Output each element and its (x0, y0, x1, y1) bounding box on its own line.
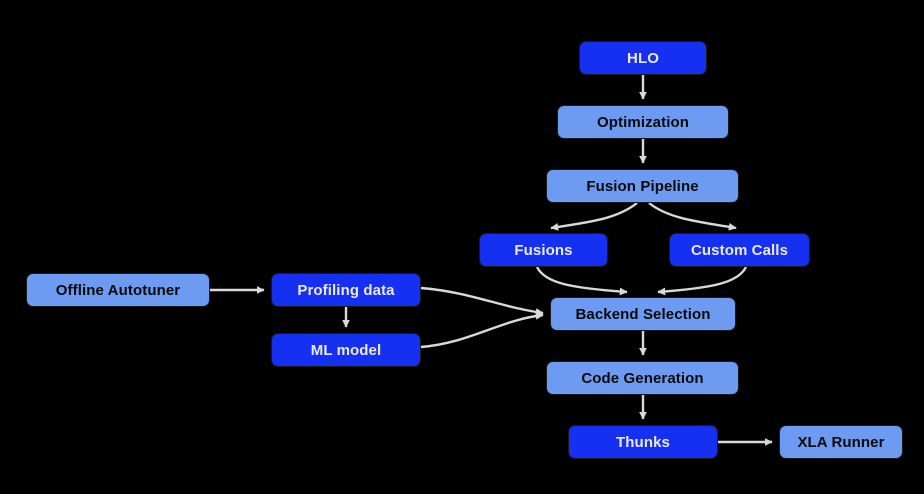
node-label: Backend Selection (575, 306, 710, 323)
node-label: XLA Runner (797, 434, 884, 451)
flowchart-canvas: HLO Optimization Fusion Pipeline Fusions… (0, 0, 924, 494)
edge-ml-model-backend-selection (421, 315, 543, 347)
node-thunks[interactable]: Thunks (568, 425, 718, 459)
node-label: ML model (311, 342, 382, 359)
node-label: Thunks (616, 434, 670, 451)
node-code-generation[interactable]: Code Generation (546, 361, 739, 395)
edge-profiling-data-backend-selection (421, 288, 543, 313)
node-label: Profiling data (297, 282, 394, 299)
edge-fusion-pipeline-fusions (551, 203, 637, 228)
node-label: Fusion Pipeline (586, 178, 698, 195)
node-backend-selection[interactable]: Backend Selection (550, 297, 736, 331)
node-custom-calls[interactable]: Custom Calls (669, 233, 810, 267)
edge-fusions-backend-selection (537, 267, 627, 292)
node-label: HLO (627, 50, 659, 67)
edge-fusion-pipeline-custom-calls (649, 203, 736, 228)
node-label: Offline Autotuner (56, 282, 180, 299)
edge-custom-calls-backend-selection (658, 267, 746, 292)
node-profiling-data[interactable]: Profiling data (271, 273, 421, 307)
node-fusions[interactable]: Fusions (479, 233, 608, 267)
node-optimization[interactable]: Optimization (557, 105, 729, 139)
node-label: Code Generation (581, 370, 703, 387)
node-ml-model[interactable]: ML model (271, 333, 421, 367)
node-fusion-pipeline[interactable]: Fusion Pipeline (546, 169, 739, 203)
node-offline-autotuner[interactable]: Offline Autotuner (26, 273, 210, 307)
node-label: Custom Calls (691, 242, 788, 259)
node-hlo[interactable]: HLO (579, 41, 707, 75)
node-label: Fusions (514, 242, 572, 259)
node-label: Optimization (597, 114, 689, 131)
node-xla-runner[interactable]: XLA Runner (779, 425, 903, 459)
